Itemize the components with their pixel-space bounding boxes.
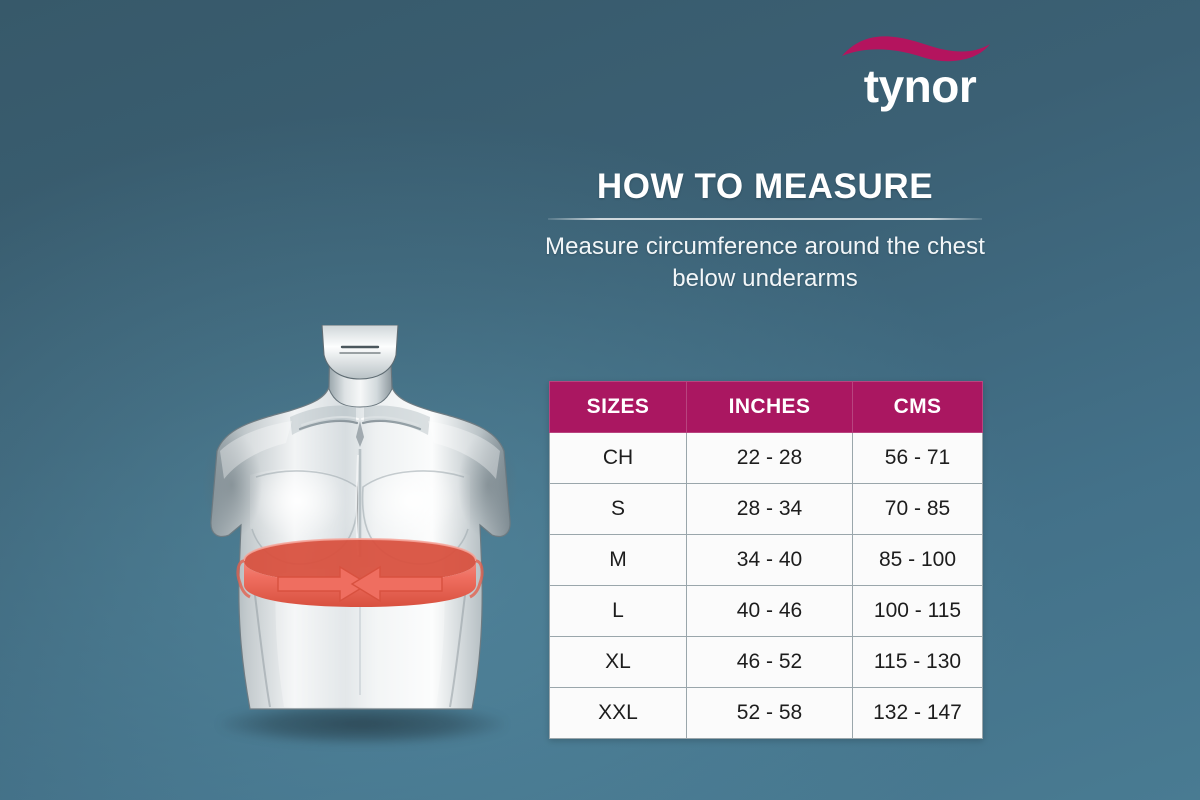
brand-logo: tynor bbox=[838, 26, 998, 120]
table-row: XL 46 - 52 115 - 130 bbox=[550, 637, 983, 688]
cell-inches: 46 - 52 bbox=[687, 637, 853, 688]
torso-illustration bbox=[180, 325, 540, 745]
table-row: L 40 - 46 100 - 115 bbox=[550, 586, 983, 637]
cell-cms: 100 - 115 bbox=[853, 586, 983, 637]
cell-cms: 85 - 100 bbox=[853, 535, 983, 586]
cell-inches: 52 - 58 bbox=[687, 688, 853, 739]
brand-wordmark: tynor bbox=[842, 60, 998, 112]
table-row: XXL 52 - 58 132 - 147 bbox=[550, 688, 983, 739]
table-row: M 34 - 40 85 - 100 bbox=[550, 535, 983, 586]
cell-cms: 56 - 71 bbox=[853, 433, 983, 484]
title-divider bbox=[548, 218, 982, 220]
page-subtitle: Measure circumference around the chest b… bbox=[540, 231, 990, 295]
cell-cms: 115 - 130 bbox=[853, 637, 983, 688]
cell-size: M bbox=[550, 535, 687, 586]
cell-cms: 132 - 147 bbox=[853, 688, 983, 739]
column-header-cms: CMS bbox=[853, 382, 983, 433]
cell-inches: 28 - 34 bbox=[687, 484, 853, 535]
cell-size: CH bbox=[550, 433, 687, 484]
size-chart-table: SIZES INCHES CMS CH 22 - 28 56 - 71 S 28… bbox=[549, 381, 983, 739]
column-header-inches: INCHES bbox=[687, 382, 853, 433]
cell-size: XXL bbox=[550, 688, 687, 739]
torso-figure-icon bbox=[180, 325, 540, 745]
cell-size: S bbox=[550, 484, 687, 535]
cell-size: L bbox=[550, 586, 687, 637]
cell-inches: 34 - 40 bbox=[687, 535, 853, 586]
page-title: HOW TO MEASURE bbox=[548, 166, 982, 208]
size-chart-page: tynor HOW TO MEASURE Measure circumferen… bbox=[0, 0, 1200, 800]
table-row: S 28 - 34 70 - 85 bbox=[550, 484, 983, 535]
cell-inches: 22 - 28 bbox=[687, 433, 853, 484]
cell-size: XL bbox=[550, 637, 687, 688]
cell-cms: 70 - 85 bbox=[853, 484, 983, 535]
table-header-row: SIZES INCHES CMS bbox=[550, 382, 983, 433]
column-header-sizes: SIZES bbox=[550, 382, 687, 433]
table-row: CH 22 - 28 56 - 71 bbox=[550, 433, 983, 484]
cell-inches: 40 - 46 bbox=[687, 586, 853, 637]
